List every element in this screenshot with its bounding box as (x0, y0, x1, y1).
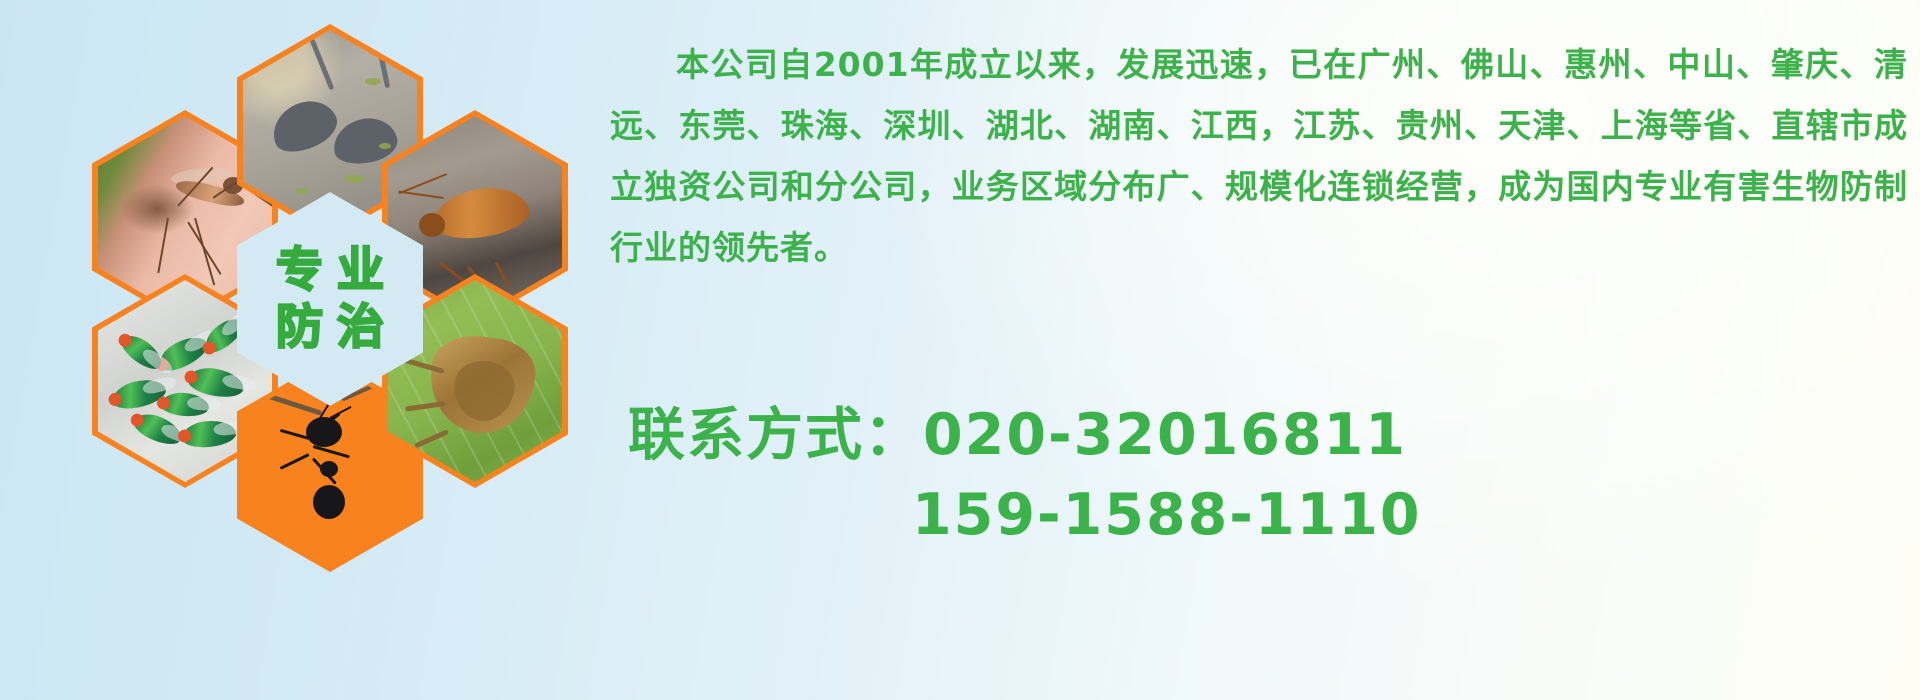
contact-phone-primary[interactable]: 020-32016811 (923, 402, 1407, 468)
pest-control-banner: 专业 防治 本公司自2001年成立以来，发展迅速，已在广州、佛山、惠州、中山、肇… (0, 0, 1920, 700)
company-description-text: 本公司自2001年成立以来，发展迅速，已在广州、佛山、惠州、中山、肇庆、清远、东… (610, 34, 1908, 278)
center-label-line2: 防治 (262, 304, 398, 351)
contact-label: 联系方式： (628, 402, 923, 468)
center-label-line1: 专业 (262, 247, 398, 294)
company-description: 本公司自2001年成立以来，发展迅速，已在广州、佛山、惠州、中山、肇庆、清远、东… (610, 34, 1908, 278)
contact-block: 联系方式：020-32016811 159-1588-1110 (620, 395, 1910, 555)
contact-secondary-line[interactable]: 159-1588-1110 (620, 475, 1910, 555)
contact-primary-line[interactable]: 联系方式：020-32016811 (620, 395, 1910, 475)
honeycomb-cluster: 专业 防治 (92, 0, 592, 576)
contact-phone-secondary[interactable]: 159-1588-1110 (912, 482, 1422, 548)
